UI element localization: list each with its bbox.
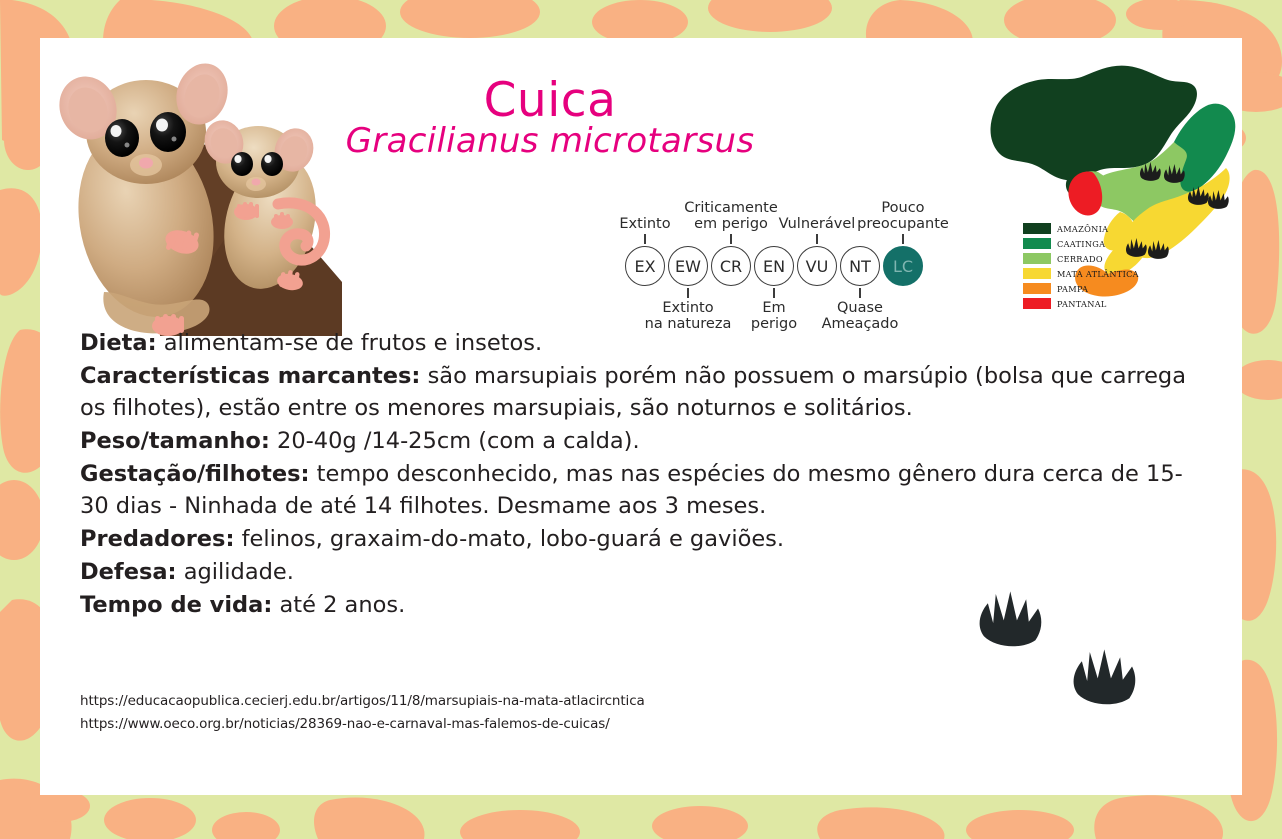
legend-swatch-5 <box>1023 298 1051 309</box>
fact-label: Dieta: <box>80 330 157 356</box>
status-circle-en[interactable]: EN <box>754 246 794 286</box>
scientific-name: Gracilianus microtarsus <box>340 123 760 160</box>
fact-label: Gestação/filhotes: <box>80 461 310 487</box>
legend-label: PAMPA <box>1057 284 1088 294</box>
legend-label: MATA ATLÂNTICA <box>1057 269 1139 279</box>
opossum-illustration <box>42 46 372 336</box>
fact-label: Predadores: <box>80 526 234 552</box>
info-card: Cuica Gracilianus microtarsus EXEWCRENVU… <box>40 38 1242 795</box>
fact-value: até 2 anos. <box>272 592 405 618</box>
status-label-lc: Poucopreocupante <box>843 200 963 232</box>
status-tick-cr <box>730 234 731 244</box>
page-title: Cuica <box>340 76 760 125</box>
conservation-status-scale: EXEWCRENVUNTLC ExtintoExtintona natureza… <box>625 168 1005 348</box>
legend-row: AMAZÔNIA <box>1023 221 1153 236</box>
fact-value: 20-40g /14-25cm (com a calda). <box>270 428 640 454</box>
legend-label: CERRADO <box>1057 254 1103 264</box>
status-circle-row: EXEWCRENVUNTLC <box>625 246 923 286</box>
fact-line: Gestação/filhotes: tempo desconhecido, m… <box>80 459 1210 523</box>
fact-label: Defesa: <box>80 559 177 585</box>
map-legend: AMAZÔNIACAATINGACERRADOMATA ATLÂNTICAPAM… <box>1023 221 1153 311</box>
legend-label: PANTANAL <box>1057 299 1107 309</box>
status-circle-cr[interactable]: CR <box>711 246 751 286</box>
legend-row: PANTANAL <box>1023 296 1153 311</box>
legend-row: CERRADO <box>1023 251 1153 266</box>
source-url[interactable]: https://educacaopublica.cecierj.edu.br/a… <box>80 690 980 713</box>
legend-swatch-2 <box>1023 253 1051 264</box>
legend-swatch-0 <box>1023 223 1051 234</box>
status-tick-nt <box>859 288 860 298</box>
legend-label: AMAZÔNIA <box>1057 224 1108 234</box>
status-tick-ew <box>687 288 688 298</box>
status-circle-nt[interactable]: NT <box>840 246 880 286</box>
fact-label: Peso/tamanho: <box>80 428 270 454</box>
legend-swatch-1 <box>1023 238 1051 249</box>
fact-value: agilidade. <box>177 559 294 585</box>
fact-value: felinos, graxaim-do-mato, lobo-guará e g… <box>234 526 784 552</box>
legend-row: MATA ATLÂNTICA <box>1023 266 1153 281</box>
status-tick-vu <box>816 234 817 244</box>
fact-label: Tempo de vida: <box>80 592 272 618</box>
status-tick-en <box>773 288 774 298</box>
legend-row: PAMPA <box>1023 281 1153 296</box>
fact-value: alimentam-se de frutos e insetos. <box>157 330 543 356</box>
status-tick-ex <box>644 234 645 244</box>
fact-line: Características marcantes: são marsupiai… <box>80 361 1210 425</box>
status-circle-ex[interactable]: EX <box>625 246 665 286</box>
fact-line: Dieta: alimentam-se de frutos e insetos. <box>80 328 1210 360</box>
source-url[interactable]: https://www.oeco.org.br/noticias/28369-n… <box>80 713 980 736</box>
title-block: Cuica Gracilianus microtarsus <box>340 76 760 161</box>
legend-swatch-4 <box>1023 283 1051 294</box>
fact-line: Peso/tamanho: 20-40g /14-25cm (com a cal… <box>80 426 1210 458</box>
source-links: https://educacaopublica.cecierj.edu.br/a… <box>80 690 980 736</box>
status-circle-lc[interactable]: LC <box>883 246 923 286</box>
status-tick-lc <box>902 234 903 244</box>
legend-label: CAATINGA <box>1057 239 1105 249</box>
paw-print-decoration <box>940 548 1160 708</box>
fact-label: Características marcantes: <box>80 363 420 389</box>
status-circle-vu[interactable]: VU <box>797 246 837 286</box>
legend-row: CAATINGA <box>1023 236 1153 251</box>
status-circle-ew[interactable]: EW <box>668 246 708 286</box>
legend-swatch-3 <box>1023 268 1051 279</box>
